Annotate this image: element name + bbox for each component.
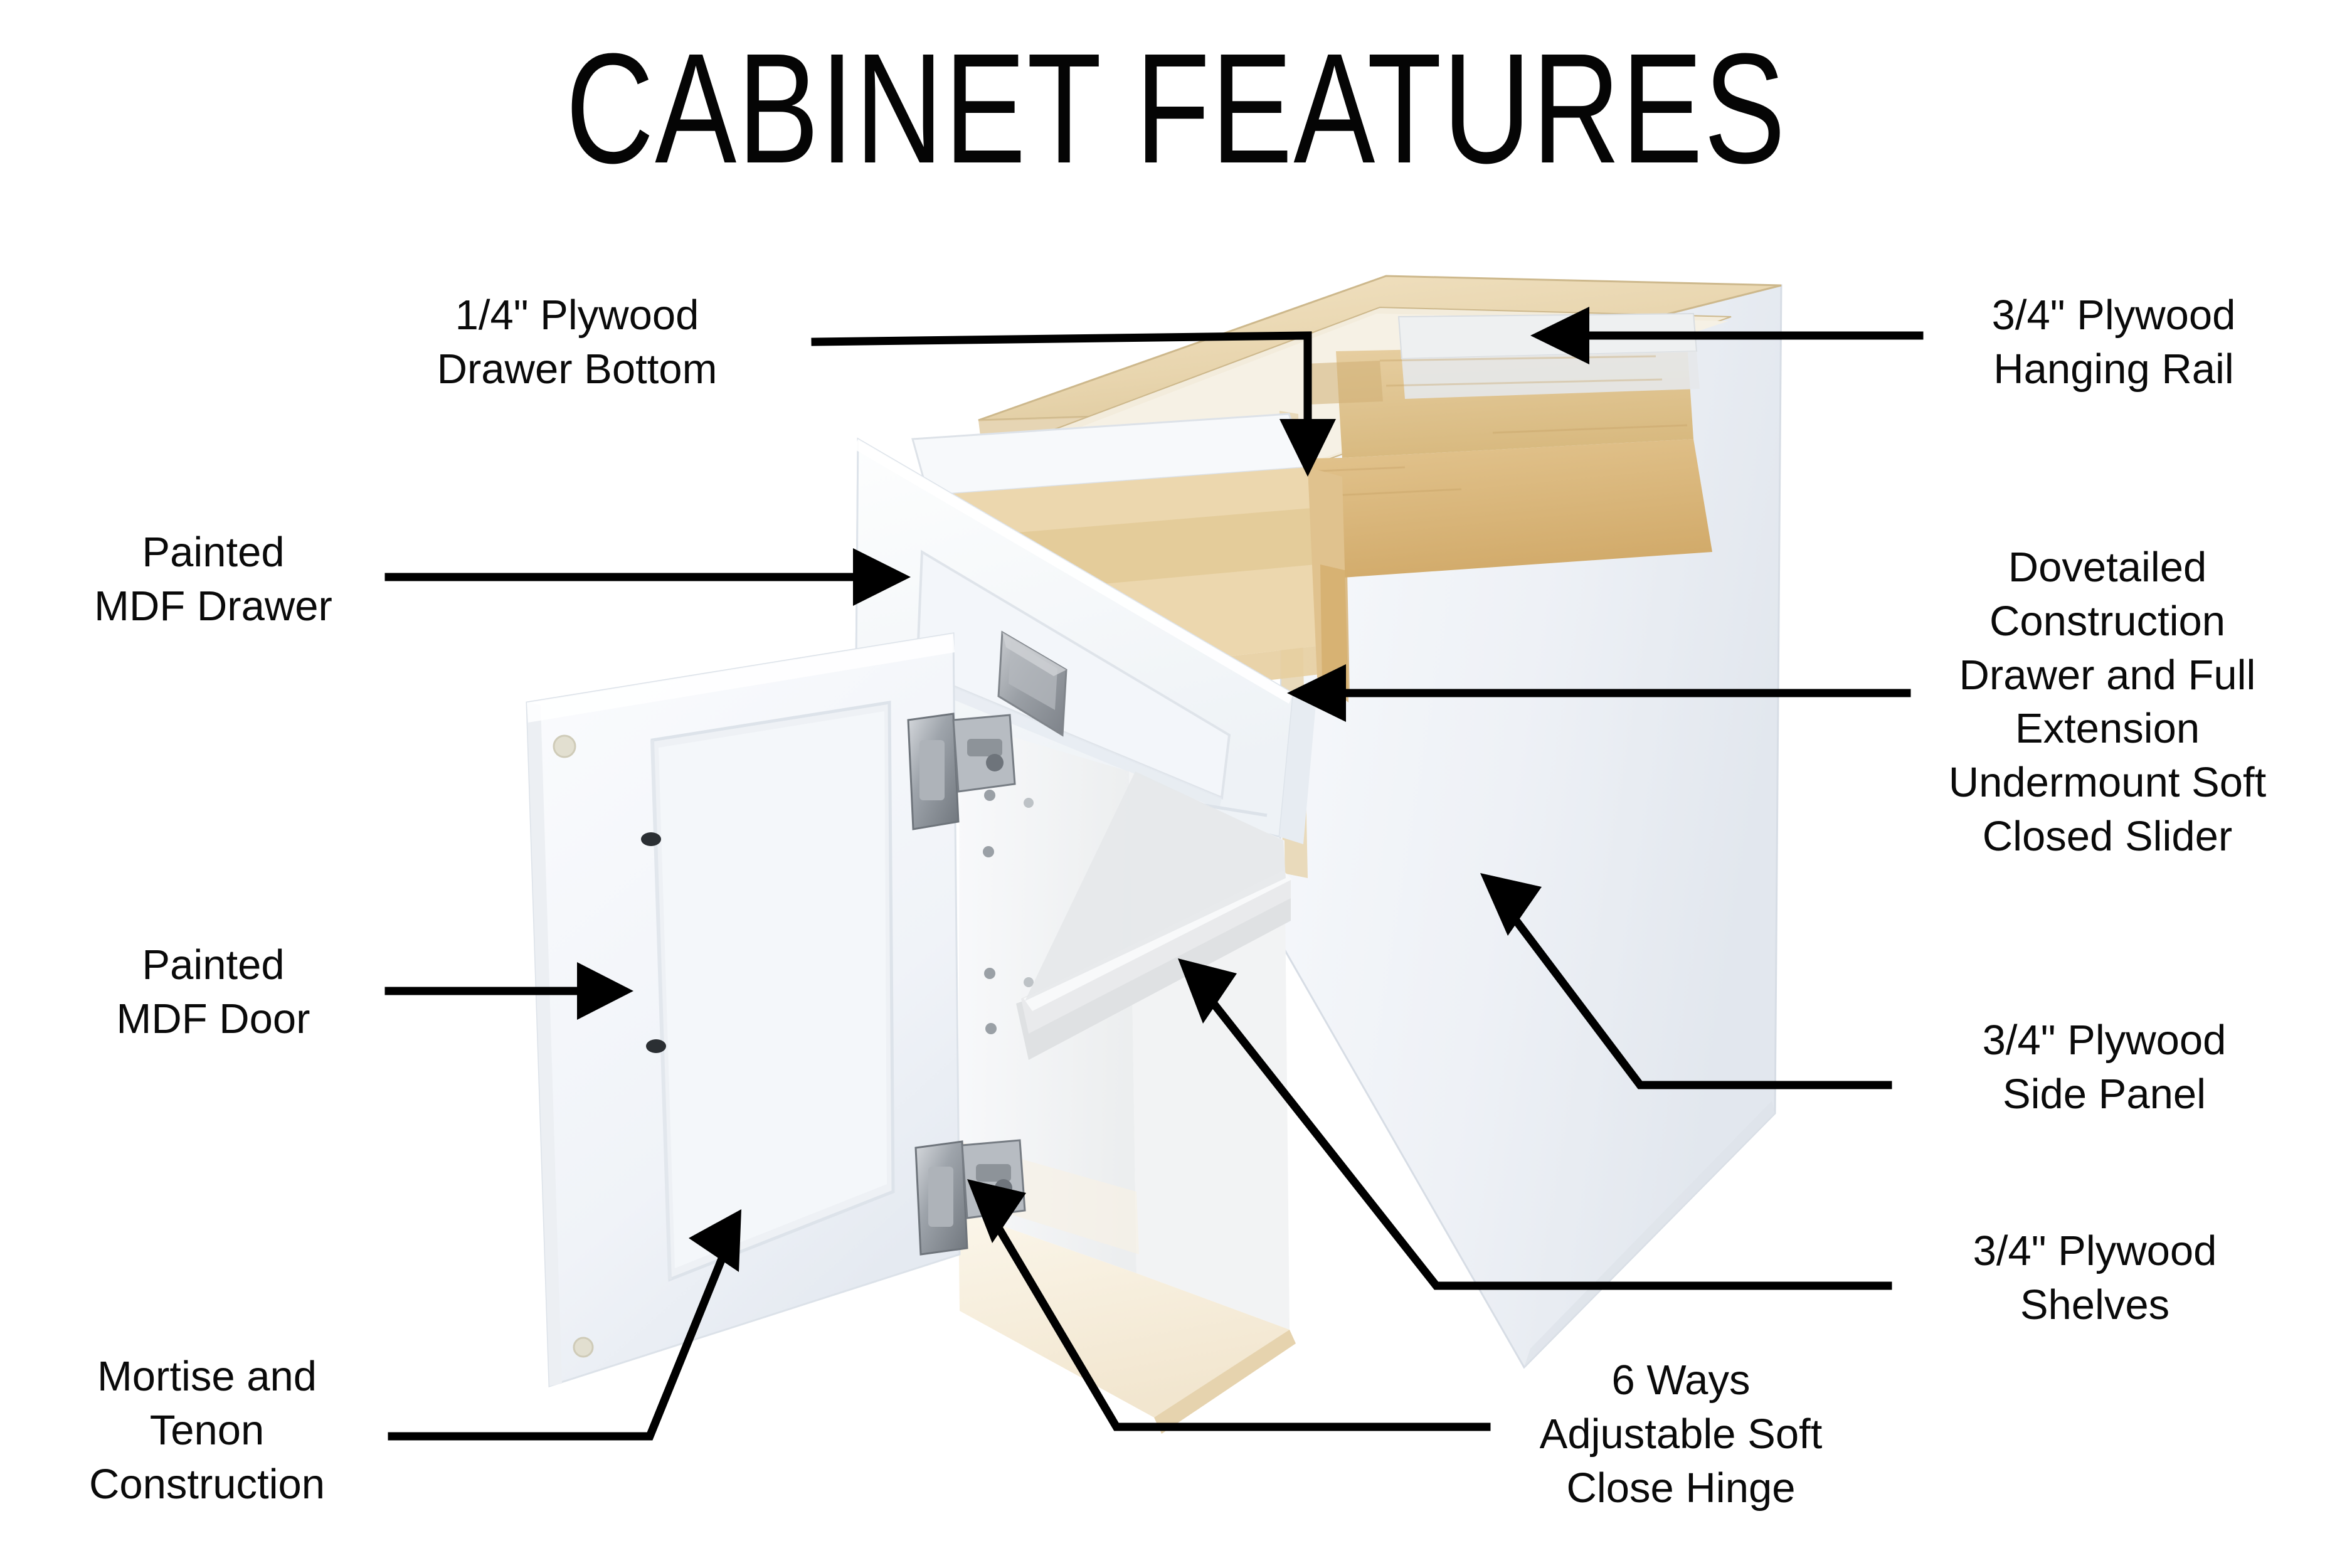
label-side-panel: 3/4" Plywood Side Panel (1900, 1014, 2308, 1121)
cabinet-door (527, 633, 960, 1386)
label-dovetailed-construction: Dovetailed Construction Drawer and Full … (1869, 541, 2346, 864)
label-painted-mdf-drawer: Painted MDF Drawer (38, 526, 389, 633)
label-drawer-bottom: 1/4" Plywood Drawer Bottom (351, 289, 803, 396)
infographic-page: CABINET FEATURES (0, 0, 2352, 1568)
label-mortise-tenon: Mortise and Tenon Construction (25, 1350, 389, 1511)
label-painted-mdf-door: Painted MDF Door (38, 938, 389, 1046)
label-hanging-rail: 3/4" Plywood Hanging Rail (1913, 289, 2314, 396)
label-hinge: 6 Ways Adjustable Soft Close Hinge (1461, 1353, 1900, 1515)
label-shelves: 3/4" Plywood Shelves (1888, 1224, 2302, 1332)
